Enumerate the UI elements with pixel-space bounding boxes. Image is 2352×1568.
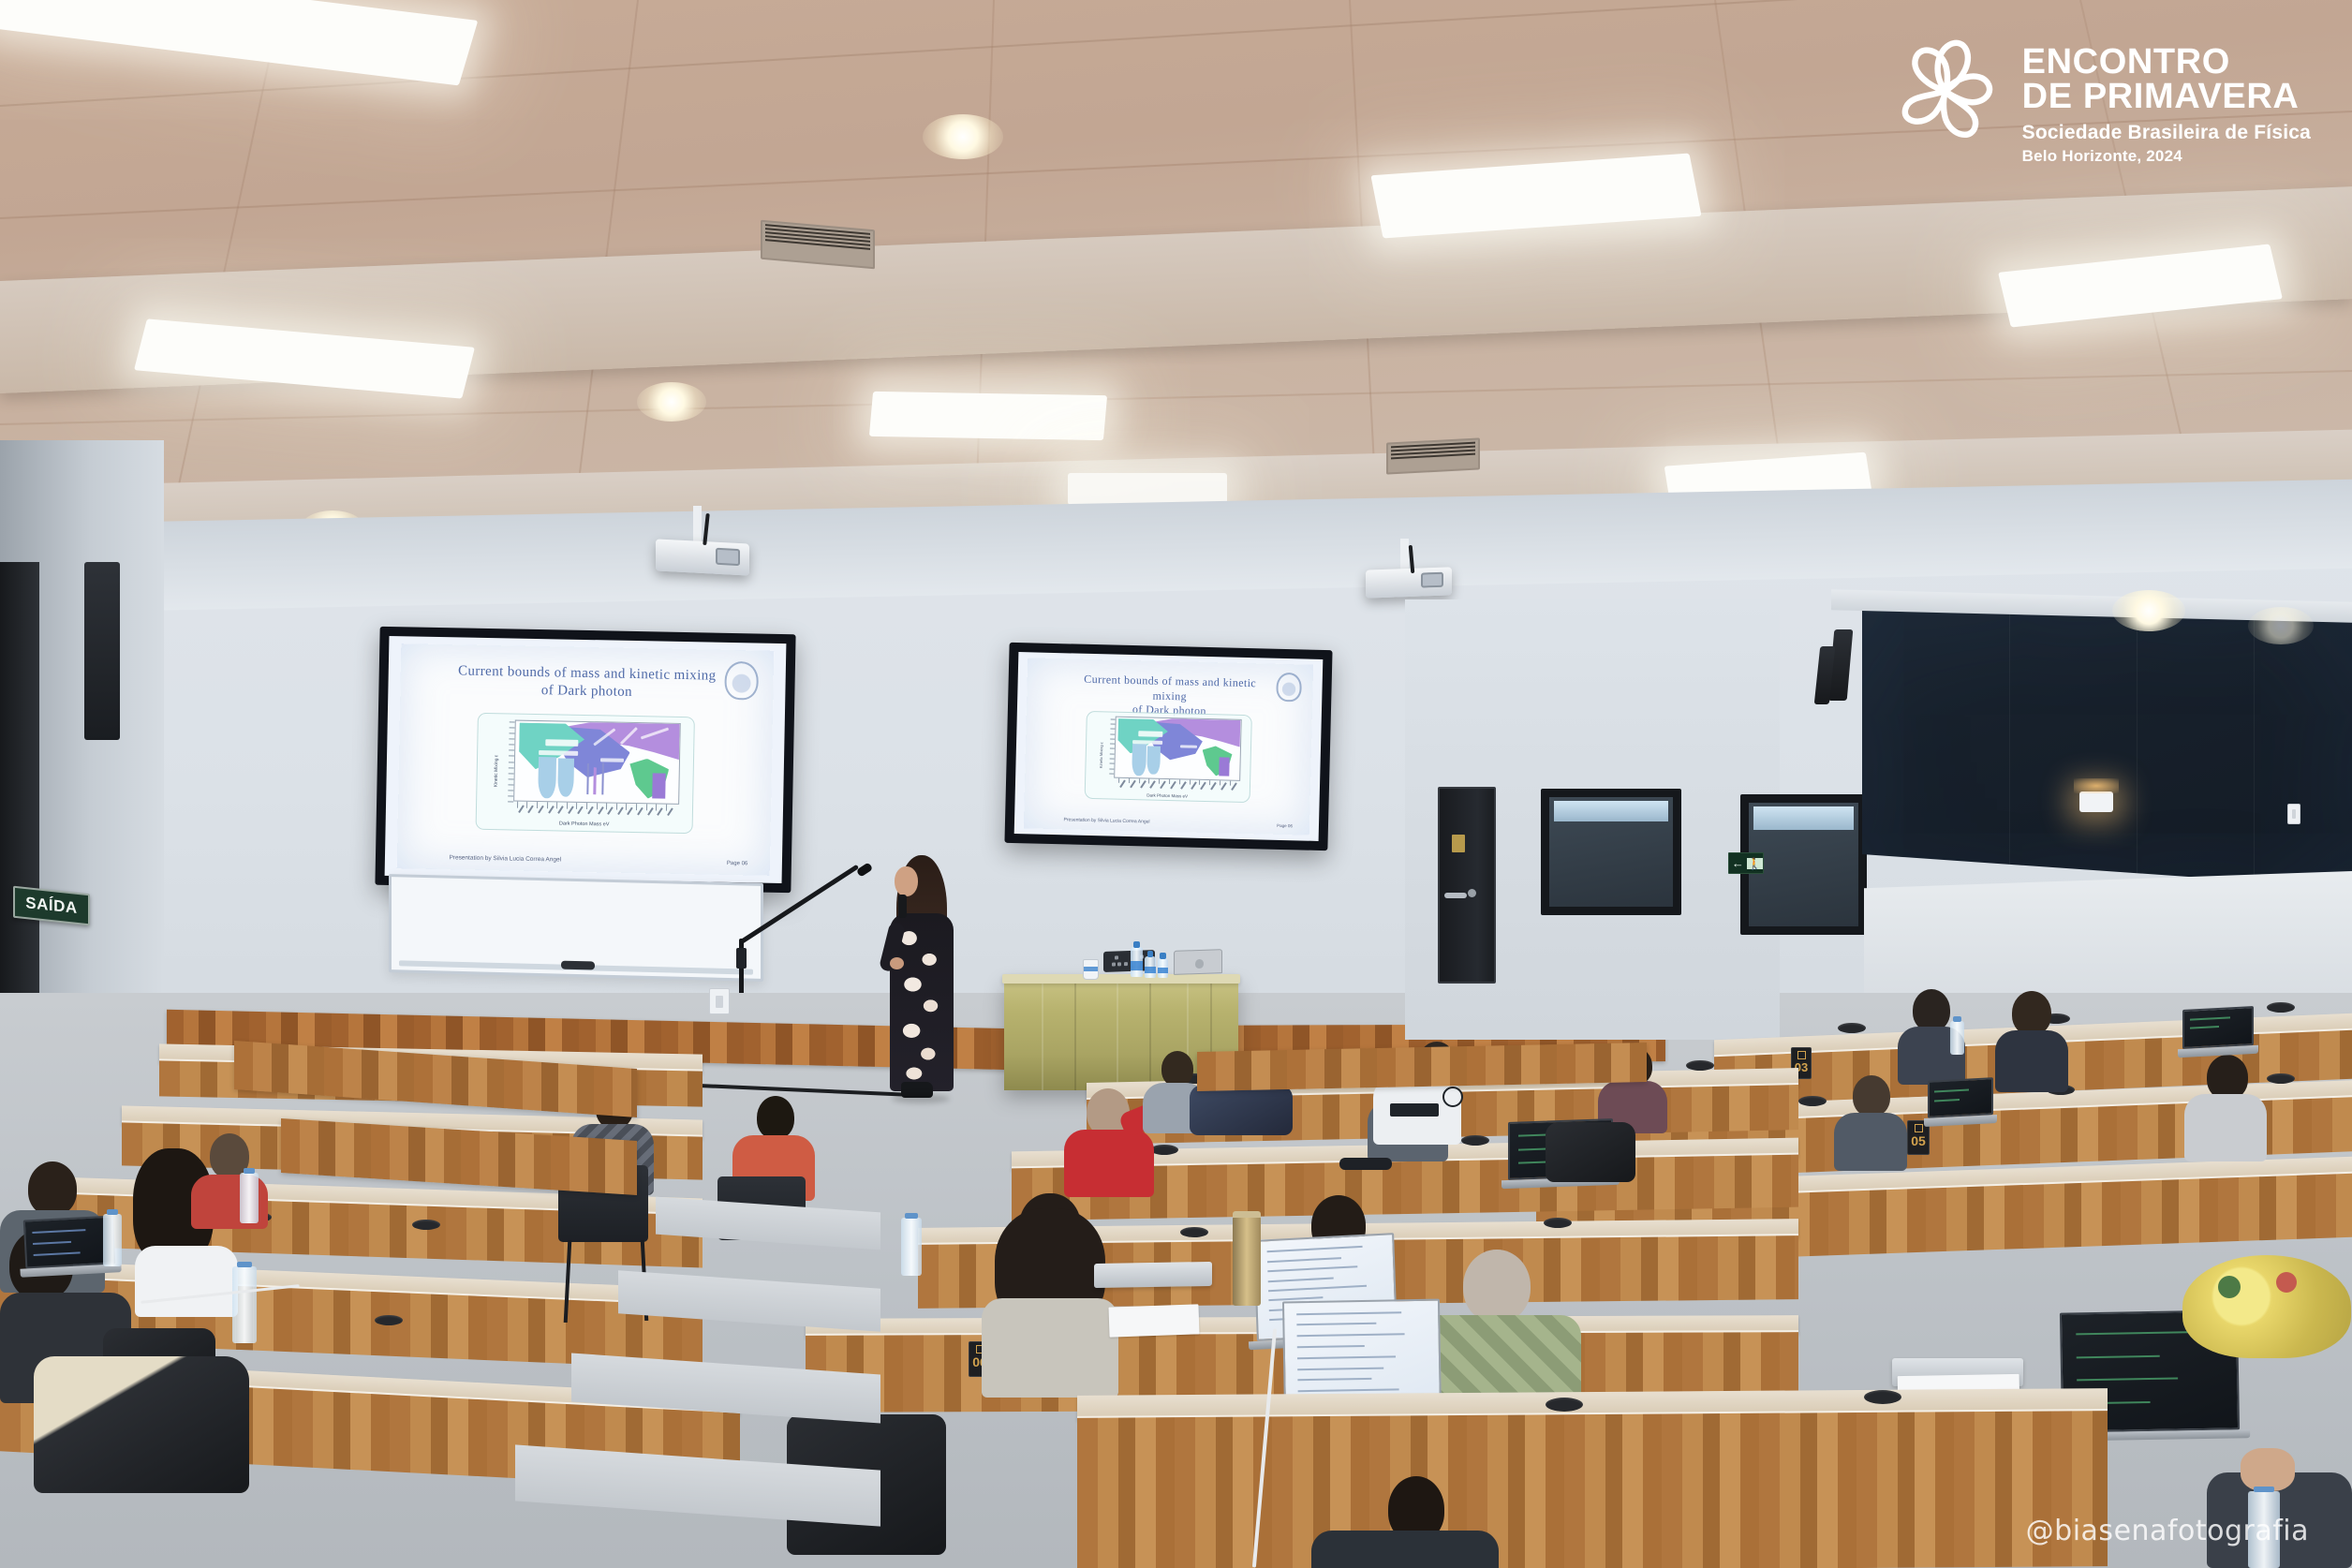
- glasses-case: [1339, 1158, 1392, 1170]
- slide-university-crest: [725, 661, 760, 701]
- slide-footer-presenter: Presentation by Silvia Lucia Correa Ange…: [449, 854, 561, 863]
- apple-logo-icon: [1195, 958, 1204, 968]
- slide-page-number: Page 06: [1277, 823, 1293, 828]
- audience-head-grey: [1463, 1250, 1531, 1323]
- slide-floral-decoration: [403, 653, 444, 861]
- ceiling-spotlight: [2112, 590, 2185, 631]
- bench-row-front: [1077, 1388, 2108, 1568]
- presenter-hand: [890, 957, 904, 969]
- mercedes-star-icon: [1442, 1087, 1463, 1107]
- slide-footer-presenter: Presentation by Silvia Lucia Correa Ange…: [1063, 817, 1149, 824]
- slide-page-number: Page 06: [727, 861, 747, 866]
- whiteboard-marker: [561, 961, 595, 970]
- water-bottle: [232, 1266, 257, 1343]
- cable-grommet: [1864, 1390, 1901, 1404]
- presenter-clicker: [898, 895, 907, 918]
- audience-torso: [1834, 1113, 1907, 1171]
- projection-screen-right: Current bounds of mass and kinetic mixin…: [1004, 643, 1332, 851]
- cable-grommet: [1686, 1060, 1714, 1071]
- event-logo: ENCONTRO DE PRIMAVERA Sociedade Brasilei…: [1886, 32, 2311, 166]
- side-door[interactable]: [1438, 787, 1496, 984]
- cable-grommet: [1150, 1145, 1178, 1155]
- chart-plot-area: [1114, 717, 1242, 781]
- chart-region-sensei: [652, 773, 665, 799]
- audience-torso: [982, 1298, 1118, 1398]
- audience-laptop-closed[interactable]: [1094, 1262, 1212, 1288]
- cable-grommet: [1838, 1023, 1866, 1033]
- door-lock[interactable]: [1468, 889, 1476, 897]
- exit-sign-label: SAÍDA: [25, 894, 77, 918]
- audience-laptop-open[interactable]: [23, 1216, 116, 1269]
- wall-sconce: [2079, 791, 2113, 812]
- audience-head: [2012, 991, 2051, 1035]
- projector-lens: [1421, 572, 1443, 587]
- running-man-icon: 🚶: [1747, 858, 1763, 869]
- audience-torso-white: [135, 1246, 238, 1317]
- light-switch[interactable]: [709, 988, 730, 1014]
- presenter-laptop[interactable]: [1174, 949, 1222, 975]
- audience-head: [757, 1096, 794, 1139]
- slide-right: Current bounds of mass and kinetic mixin…: [1024, 658, 1314, 836]
- projector-mount: [1400, 539, 1409, 572]
- chart-spike: [593, 767, 597, 794]
- whiteboard: [389, 874, 763, 982]
- chart-x-tick-labels: [513, 806, 679, 818]
- chart-region-black-hole-superradiance: [1147, 746, 1161, 775]
- wall-speaker: [84, 562, 120, 740]
- plush-toy: [2182, 1255, 2351, 1358]
- exit-arrow-icon: ←: [1729, 857, 1747, 869]
- audience-torso: [2184, 1094, 2267, 1161]
- event-location-year: Belo Horizonte, 2024: [2022, 147, 2311, 166]
- projector-mount: [693, 506, 702, 545]
- audience-torso: [1995, 1030, 2068, 1092]
- plush-toy-detail: [2276, 1272, 2297, 1293]
- slide-chart-container: Kinetic Mixing ε Dark Photon Mass eV Cou…: [1084, 710, 1251, 803]
- water-bottle: [1131, 947, 1143, 977]
- audience-laptop[interactable]: [1928, 1077, 1993, 1118]
- chart-region-label: [600, 758, 623, 762]
- event-society: Sociedade Brasileira de Física: [2022, 122, 2311, 144]
- cable-grommet: [1798, 1096, 1827, 1106]
- water-bottle: [1145, 956, 1156, 978]
- cable-grommet: [2267, 1073, 2295, 1084]
- projection-screen-left: Current bounds of mass and kinetic mixin…: [375, 627, 795, 893]
- chart-plot-area: [513, 720, 680, 806]
- backpack: [1546, 1122, 1635, 1182]
- backpack: [1190, 1085, 1293, 1135]
- audience-head: [2207, 1055, 2248, 1100]
- event-title-line1: ENCONTRO: [2022, 45, 2311, 80]
- cable-grommet: [2267, 1002, 2295, 1013]
- bench-number: 05: [1911, 1133, 1926, 1148]
- chart-y-axis-label: Kinetic Mixing ε: [493, 755, 499, 788]
- backpack-foreground: [34, 1356, 249, 1493]
- ceiling-spotlight: [923, 114, 1003, 159]
- exit-sign-door: ← 🚶: [1728, 852, 1764, 874]
- petronas-logo-text: [1390, 1103, 1439, 1117]
- water-bottle: [1158, 958, 1168, 978]
- door-plaque: [1452, 835, 1465, 852]
- ceiling-light-panel: [869, 392, 1107, 440]
- water-bottle: [901, 1218, 922, 1276]
- ceiling-light-panel: [1068, 473, 1227, 505]
- audience-laptop[interactable]: [2182, 1006, 2254, 1049]
- cable-grommet: [1461, 1135, 1489, 1146]
- slide-title: Current bounds of mass and kinetic mixin…: [452, 662, 722, 703]
- thermos-bottle: [1233, 1216, 1261, 1306]
- slide-floral-decoration: [1028, 664, 1060, 821]
- cable-grommet: [1180, 1227, 1208, 1237]
- air-vent: [1386, 437, 1480, 474]
- audience-hand: [2241, 1448, 2295, 1491]
- chart-region-black-hole-superradiance: [557, 759, 574, 797]
- cable-grommet: [412, 1220, 440, 1230]
- audience-head: [1853, 1075, 1890, 1117]
- chart-region-sensei: [1220, 757, 1230, 777]
- presenter-shadow: [892, 1094, 950, 1103]
- chart-region-black-hole-superradiance: [538, 757, 556, 799]
- chart-region-black-hole-superradiance: [1132, 744, 1146, 776]
- slide-university-crest: [1276, 673, 1302, 703]
- chart-region-label: [1138, 731, 1163, 736]
- chart-region-label: [545, 739, 578, 746]
- papers: [1108, 1304, 1199, 1337]
- projector-lens: [716, 548, 740, 566]
- audience-head: [1161, 1051, 1193, 1087]
- screen-surface: Current bounds of mass and kinetic mixin…: [1014, 652, 1324, 841]
- cable-grommet: [1544, 1218, 1572, 1228]
- presenter-table-top: [1002, 974, 1240, 984]
- chart-region-label: [539, 750, 578, 756]
- water-bottle: [1950, 1021, 1964, 1055]
- audience-torso-red: [1064, 1130, 1154, 1197]
- screen-surface: Current bounds of mass and kinetic mixin…: [385, 636, 787, 883]
- photographer-watermark: @biasenafotografia: [2026, 1515, 2309, 1547]
- chart-spike: [586, 763, 589, 793]
- ceiling-spotlight-glow: [2248, 607, 2314, 644]
- wall-switch[interactable]: [2287, 804, 2300, 824]
- microphone-boom-clamp: [736, 948, 747, 969]
- cable-grommet: [1546, 1398, 1583, 1412]
- presenter-face: [895, 866, 918, 896]
- chart-spike: [601, 762, 604, 794]
- audience-head: [28, 1161, 77, 1216]
- flower-outline-icon: [1886, 32, 2005, 154]
- chart-x-axis-label: Dark Photon Mass eV: [477, 820, 691, 829]
- event-title-line2: DE PRIMAVERA: [2022, 80, 2311, 114]
- right-wall-lower: [1864, 871, 2352, 993]
- water-bottle: [240, 1173, 259, 1223]
- audience-torso: [1311, 1531, 1499, 1568]
- audience-head: [1913, 989, 1950, 1031]
- ceiling-spotlight: [637, 382, 706, 422]
- door-handle[interactable]: [1444, 893, 1467, 898]
- cup: [1083, 959, 1099, 980]
- chart-x-axis-label: Dark Photon Mass eV: [1086, 791, 1250, 799]
- plush-toy-detail: [2218, 1276, 2241, 1298]
- dark-acoustic-wall: [1862, 607, 2352, 888]
- interior-window: [1541, 789, 1681, 915]
- water-bottle: [103, 1214, 122, 1266]
- event-logo-text: ENCONTRO DE PRIMAVERA Sociedade Brasilei…: [2022, 32, 2311, 166]
- slide-chart-container: Kinetic Mixing ε Dark Photon Mass eV Cou…: [476, 713, 695, 835]
- lecture-hall-photo: SAÍDA Current bounds of mass and kinetic…: [0, 0, 2352, 1568]
- projector-right: [1366, 567, 1452, 598]
- cable-grommet: [375, 1315, 403, 1325]
- chart-y-axis-label: Kinetic Mixing ε: [1098, 742, 1103, 768]
- slide-left: Current bounds of mass and kinetic mixin…: [396, 643, 774, 876]
